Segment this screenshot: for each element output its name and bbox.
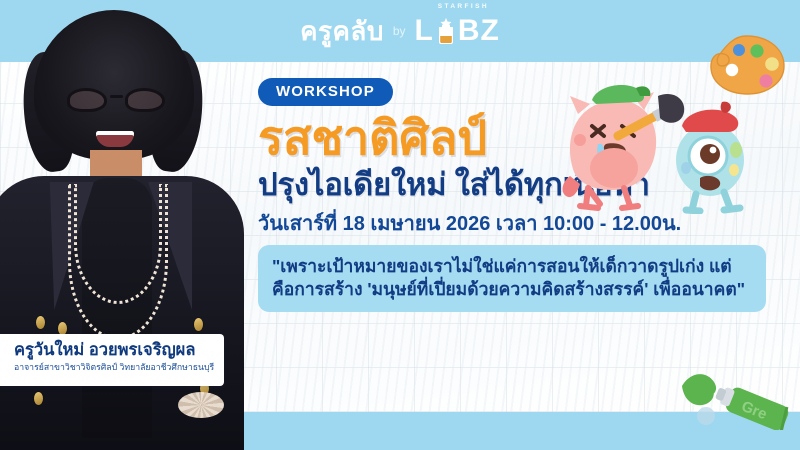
blazer-button xyxy=(36,316,45,329)
brand-kruclub-label: ครูคลับ xyxy=(300,18,384,44)
speaker-name-banner: ครูวันใหม่ อวยพรเจริญผล อาจารย์สาขาวิชาว… xyxy=(0,334,224,386)
speaker-name: ครูวันใหม่ อวยพรเจริญผล xyxy=(14,341,216,359)
brand-labz-label: L BZ xyxy=(415,16,500,46)
schedule-text: วันเสาร์ที่ 18 เมษายน 2026 เวลา 10:00 - … xyxy=(258,212,774,236)
portrait-pearl-bracelet xyxy=(178,392,224,418)
beaker-flask-icon xyxy=(435,18,457,44)
brand-logo-bar: ครูคลับ by STARFISH L BZ xyxy=(0,0,800,62)
portrait-pearl-necklace-outer xyxy=(68,184,168,340)
teal-cyclops-monster-with-beret xyxy=(676,102,744,211)
portrait-glasses xyxy=(66,88,166,114)
workshop-poster: ครูคลับ by STARFISH L BZ xyxy=(0,0,800,450)
brand-labz-logo: STARFISH L BZ xyxy=(415,16,500,46)
blazer-button xyxy=(194,318,203,331)
brand-starfish-label: STARFISH xyxy=(438,3,489,10)
workshop-badge: WORKSHOP xyxy=(258,78,393,106)
brand-by-label: by xyxy=(393,24,406,38)
speaker-affiliation: อาจารย์สาขาวิชาวิจิตรศิลป์ วิทยาลัยอาชีว… xyxy=(14,362,216,372)
pink-monster-with-paintbrush xyxy=(563,85,657,208)
blazer-button xyxy=(34,392,43,405)
quote-box: "เพราะเป้าหมายของเราไม่ใช่แค่การสอนให้เด… xyxy=(258,245,766,312)
green-paint-tube-icon: Gre xyxy=(676,364,794,430)
